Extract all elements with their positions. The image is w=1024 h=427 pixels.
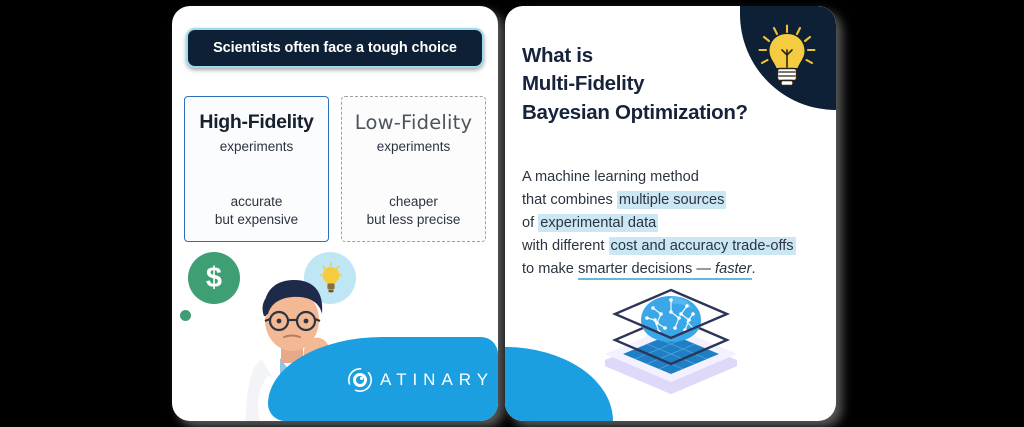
high-fidelity-note-line1: accurate (185, 193, 328, 210)
scientist-illustration: $ (172, 242, 498, 421)
atinary-wordmark: ATINARY (380, 370, 494, 390)
low-fidelity-note-line1: cheaper (342, 193, 485, 210)
high-fidelity-note-line2: but expensive (185, 211, 328, 228)
body-copy: A machine learning method that combines … (522, 166, 827, 281)
neural-layers-illustration (597, 276, 745, 394)
headline-banner-text: Scientists often face a tough choice (213, 40, 457, 56)
body-line-5-text: to make (522, 261, 578, 277)
right-card: What is Multi-Fidelity Bayesian Optimiza… (505, 6, 836, 421)
low-fidelity-subtitle: experiments (377, 139, 451, 154)
highlight-experimental-data: experimental data (538, 214, 658, 232)
page-title-line1: What is (522, 42, 792, 70)
body-line-3-text: of (522, 215, 538, 231)
body-line-2-text: that combines (522, 192, 617, 208)
high-fidelity-title: High-Fidelity (199, 111, 313, 134)
high-fidelity-subtitle: experiments (220, 139, 294, 154)
highlight-multiple-sources: multiple sources (617, 191, 726, 209)
underline-smarter-decisions-text: smarter decisions — (578, 261, 715, 277)
money-bubble-dot (180, 310, 191, 321)
low-fidelity-note: cheaper but less precise (342, 193, 485, 228)
page-title-line3: Bayesian Optimization? (522, 99, 792, 127)
low-fidelity-note-line2: but less precise (342, 211, 485, 228)
highlight-cost-accuracy-tradeoffs: cost and accuracy trade-offs (609, 237, 796, 255)
body-line-2: that combines multiple sources (522, 189, 827, 212)
low-fidelity-title: Low-Fidelity (355, 111, 472, 134)
italic-faster: faster (715, 261, 752, 277)
atinary-swirl-logo-icon (347, 367, 373, 393)
fidelity-comparison-row: High-Fidelity experiments accurate but e… (184, 96, 486, 242)
poster-stage: Scientists often face a tough choice Hig… (0, 0, 1024, 427)
high-fidelity-note: accurate but expensive (185, 193, 328, 228)
page-title: What is Multi-Fidelity Bayesian Optimiza… (522, 42, 792, 127)
body-line-1: A machine learning method (522, 166, 827, 189)
headline-banner: Scientists often face a tough choice (186, 28, 484, 68)
left-card: Scientists often face a tough choice Hig… (172, 6, 498, 421)
body-line-1-text: A machine learning method (522, 169, 699, 185)
body-line-3: of experimental data (522, 212, 827, 235)
page-title-line2: Multi-Fidelity (522, 70, 792, 98)
atinary-logo: ATINARY (347, 367, 494, 393)
high-fidelity-card: High-Fidelity experiments accurate but e… (184, 96, 329, 242)
body-line-4-text: with different (522, 238, 609, 254)
low-fidelity-card: Low-Fidelity experiments cheaper but les… (341, 96, 486, 242)
body-line-4: with different cost and accuracy trade-o… (522, 235, 827, 258)
body-line-5-period: . (752, 261, 756, 277)
